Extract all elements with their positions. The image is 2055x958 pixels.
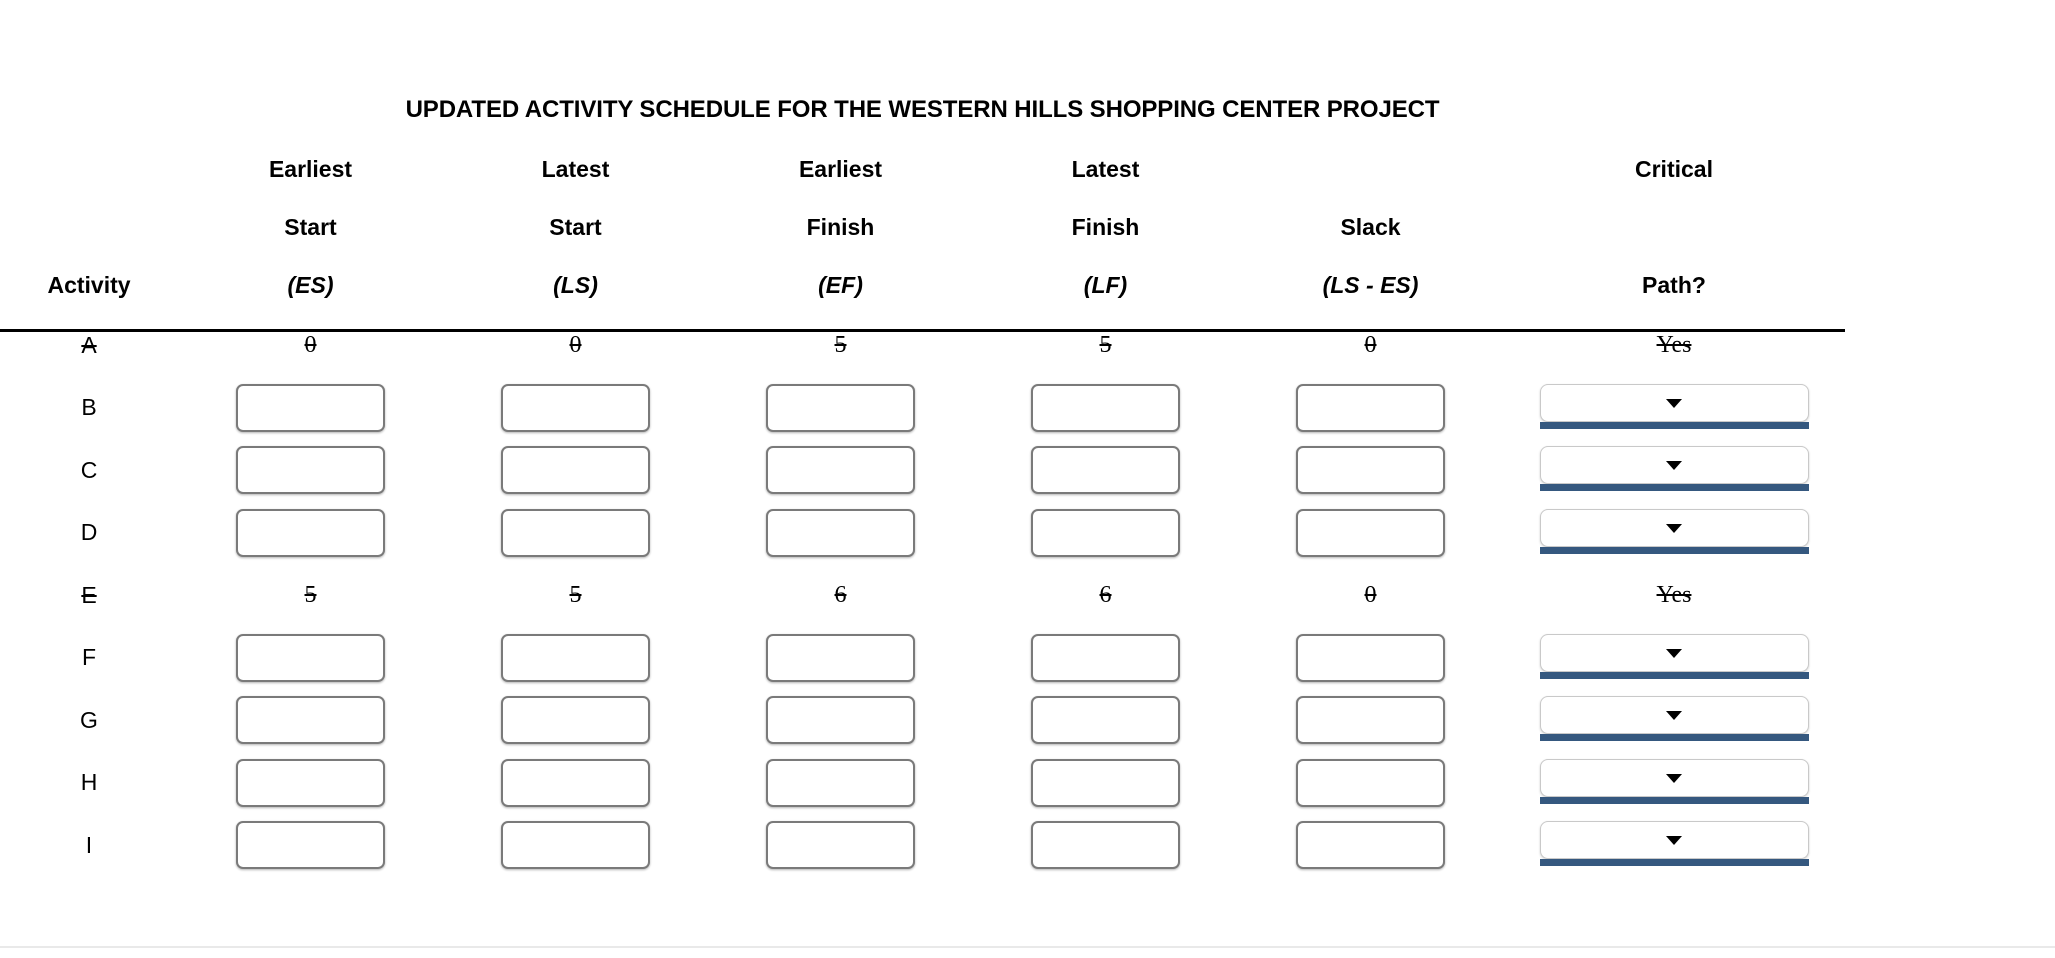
slack-input[interactable]	[1296, 821, 1445, 869]
activity-cell: D	[0, 502, 178, 565]
latest-start-input[interactable]	[501, 634, 650, 682]
latest-finish-cell: 5	[973, 314, 1238, 377]
earliest-start-input[interactable]	[236, 821, 385, 869]
critical-path-cell	[1503, 689, 1845, 752]
header-ef-line1: Earliest	[708, 140, 973, 198]
critical-path-dropdown[interactable]	[1540, 759, 1809, 807]
table-header: Earliest Latest Earliest Latest Critical…	[0, 140, 1845, 314]
header-ls-line3: (LS)	[443, 256, 708, 314]
chevron-down-icon	[1666, 774, 1682, 783]
dropdown-face[interactable]	[1540, 384, 1809, 422]
chevron-down-icon	[1666, 649, 1682, 658]
table-row: F	[0, 627, 1845, 690]
header-row-3: Activity (ES) (LS) (EF) (LF) (LS - ES) P…	[0, 256, 1845, 314]
critical-path-dropdown[interactable]	[1540, 821, 1809, 869]
slack-input[interactable]	[1296, 634, 1445, 682]
earliest-finish-cell	[708, 689, 973, 752]
earliest-finish-input[interactable]	[766, 759, 915, 807]
critical-path-cell	[1503, 752, 1845, 815]
activity-schedule-table: Earliest Latest Earliest Latest Critical…	[0, 140, 1845, 877]
bottom-divider	[0, 946, 2055, 948]
earliest-finish-input[interactable]	[766, 696, 915, 744]
slack-cell	[1238, 689, 1503, 752]
table-row: H	[0, 752, 1845, 815]
activity-cell: C	[0, 439, 178, 502]
slack-cell	[1238, 627, 1503, 690]
slack-input[interactable]	[1296, 384, 1445, 432]
dropdown-underline	[1540, 672, 1809, 679]
activity-cell: E	[0, 564, 178, 627]
earliest-start-cell	[178, 689, 443, 752]
earliest-finish-cell	[708, 439, 973, 502]
critical-path-cell	[1503, 502, 1845, 565]
critical-path-cell: Yes	[1503, 314, 1845, 377]
chevron-down-icon	[1666, 524, 1682, 533]
table-row: A00550Yes	[0, 314, 1845, 377]
earliest-start-cell: 0	[178, 314, 443, 377]
header-lf-line1: Latest	[973, 140, 1238, 198]
header-ef-line2: Finish	[708, 198, 973, 256]
latest-finish-input[interactable]	[1031, 509, 1180, 557]
latest-start-cell	[443, 439, 708, 502]
table-row: E55660Yes	[0, 564, 1845, 627]
activity-label: D	[81, 519, 98, 545]
slack-input[interactable]	[1296, 696, 1445, 744]
latest-start-cell	[443, 814, 708, 877]
earliest-finish-cell: 5	[708, 314, 973, 377]
slack-input[interactable]	[1296, 446, 1445, 494]
activity-cell: H	[0, 752, 178, 815]
slack-cell	[1238, 814, 1503, 877]
earliest-finish-value: 5	[835, 332, 847, 358]
chevron-down-icon	[1666, 836, 1682, 845]
header-lf-line3: (LF)	[973, 256, 1238, 314]
slack-input[interactable]	[1296, 759, 1445, 807]
activity-label: F	[82, 644, 96, 670]
latest-finish-input[interactable]	[1031, 696, 1180, 744]
earliest-start-cell	[178, 627, 443, 690]
earliest-start-input[interactable]	[236, 384, 385, 432]
earliest-finish-input[interactable]	[766, 634, 915, 682]
header-activity-line2	[0, 198, 178, 256]
activity-cell: A	[0, 314, 178, 377]
header-ls-line1: Latest	[443, 140, 708, 198]
earliest-finish-input[interactable]	[766, 446, 915, 494]
critical-path-value: Yes	[1657, 582, 1692, 608]
header-activity-line3: Activity	[0, 256, 178, 314]
latest-finish-cell	[973, 752, 1238, 815]
earliest-start-value: 5	[305, 582, 317, 608]
dropdown-underline	[1540, 797, 1809, 804]
latest-start-input[interactable]	[501, 509, 650, 557]
latest-start-value: 5	[570, 582, 582, 608]
chevron-down-icon	[1666, 461, 1682, 470]
latest-finish-input[interactable]	[1031, 446, 1180, 494]
earliest-start-input[interactable]	[236, 446, 385, 494]
latest-finish-cell	[973, 377, 1238, 440]
earliest-start-input[interactable]	[236, 759, 385, 807]
earliest-finish-value: 6	[835, 582, 847, 608]
latest-start-cell	[443, 752, 708, 815]
latest-finish-cell	[973, 502, 1238, 565]
header-es-line3: (ES)	[178, 256, 443, 314]
header-slack-line3: (LS - ES)	[1238, 256, 1503, 314]
earliest-start-value: 0	[305, 332, 317, 358]
header-es-line1: Earliest	[178, 140, 443, 198]
earliest-start-cell	[178, 502, 443, 565]
critical-path-cell	[1503, 814, 1845, 877]
latest-finish-value: 6	[1100, 582, 1112, 608]
earliest-start-cell	[178, 814, 443, 877]
latest-start-input[interactable]	[501, 821, 650, 869]
header-row-2: Start Start Finish Finish Slack	[0, 198, 1845, 256]
table-row: C	[0, 439, 1845, 502]
header-lf-line2: Finish	[973, 198, 1238, 256]
slack-cell	[1238, 439, 1503, 502]
critical-path-cell	[1503, 627, 1845, 690]
dropdown-underline	[1540, 422, 1809, 429]
latest-start-value: 0	[570, 332, 582, 358]
slack-cell	[1238, 752, 1503, 815]
latest-finish-input[interactable]	[1031, 634, 1180, 682]
activity-label: A	[81, 332, 96, 358]
earliest-start-input[interactable]	[236, 509, 385, 557]
slack-input[interactable]	[1296, 509, 1445, 557]
latest-start-input[interactable]	[501, 759, 650, 807]
activity-cell: F	[0, 627, 178, 690]
earliest-finish-cell	[708, 814, 973, 877]
table-row: B	[0, 377, 1845, 440]
earliest-finish-input[interactable]	[766, 821, 915, 869]
latest-finish-input[interactable]	[1031, 759, 1180, 807]
latest-finish-cell	[973, 814, 1238, 877]
earliest-start-input[interactable]	[236, 634, 385, 682]
header-ef-line3: (EF)	[708, 256, 973, 314]
slack-cell	[1238, 377, 1503, 440]
activity-cell: B	[0, 377, 178, 440]
latest-start-cell	[443, 689, 708, 752]
critical-path-dropdown[interactable]	[1540, 384, 1809, 432]
critical-path-value: Yes	[1657, 332, 1692, 358]
latest-finish-cell	[973, 627, 1238, 690]
header-slack-line1	[1238, 140, 1503, 198]
header-critical-line2	[1503, 198, 1845, 256]
earliest-start-cell	[178, 377, 443, 440]
header-ls-line2: Start	[443, 198, 708, 256]
dropdown-face[interactable]	[1540, 759, 1809, 797]
critical-path-dropdown[interactable]	[1540, 634, 1809, 682]
latest-start-cell	[443, 502, 708, 565]
slack-value: 0	[1365, 582, 1377, 608]
earliest-finish-cell	[708, 502, 973, 565]
dropdown-underline	[1540, 859, 1809, 866]
latest-start-cell	[443, 377, 708, 440]
latest-start-input[interactable]	[501, 384, 650, 432]
header-es-line2: Start	[178, 198, 443, 256]
latest-finish-input[interactable]	[1031, 821, 1180, 869]
critical-path-dropdown[interactable]	[1540, 509, 1809, 557]
chevron-down-icon	[1666, 711, 1682, 720]
latest-finish-cell	[973, 689, 1238, 752]
dropdown-face[interactable]	[1540, 446, 1809, 484]
header-activity-line1	[0, 140, 178, 198]
activity-label: I	[86, 832, 92, 858]
slack-cell: 0	[1238, 314, 1503, 377]
earliest-finish-cell	[708, 377, 973, 440]
dropdown-underline	[1540, 547, 1809, 554]
chevron-down-icon	[1666, 399, 1682, 408]
earliest-start-cell	[178, 439, 443, 502]
latest-finish-input[interactable]	[1031, 384, 1180, 432]
critical-path-cell: Yes	[1503, 564, 1845, 627]
latest-start-cell: 0	[443, 314, 708, 377]
slack-cell	[1238, 502, 1503, 565]
slack-cell: 0	[1238, 564, 1503, 627]
latest-finish-cell	[973, 439, 1238, 502]
dropdown-face[interactable]	[1540, 509, 1809, 547]
critical-path-dropdown[interactable]	[1540, 696, 1809, 744]
latest-start-input[interactable]	[501, 696, 650, 744]
earliest-finish-input[interactable]	[766, 509, 915, 557]
page-title: UPDATED ACTIVITY SCHEDULE FOR THE WESTER…	[0, 96, 1845, 124]
earliest-start-cell: 5	[178, 564, 443, 627]
critical-path-cell	[1503, 377, 1845, 440]
activity-cell: I	[0, 814, 178, 877]
activity-label: B	[81, 394, 96, 420]
slack-value: 0	[1365, 332, 1377, 358]
earliest-finish-cell	[708, 627, 973, 690]
latest-start-cell: 5	[443, 564, 708, 627]
latest-finish-value: 5	[1100, 332, 1112, 358]
latest-start-cell	[443, 627, 708, 690]
table-row: D	[0, 502, 1845, 565]
dropdown-face[interactable]	[1540, 821, 1809, 859]
dropdown-face[interactable]	[1540, 634, 1809, 672]
activity-label: G	[80, 707, 98, 733]
earliest-finish-input[interactable]	[766, 384, 915, 432]
header-row-1: Earliest Latest Earliest Latest Critical	[0, 140, 1845, 198]
activity-label: C	[81, 457, 98, 483]
dropdown-underline	[1540, 734, 1809, 741]
table-row: I	[0, 814, 1845, 877]
latest-finish-cell: 6	[973, 564, 1238, 627]
critical-path-cell	[1503, 439, 1845, 502]
activity-label: E	[81, 582, 96, 608]
header-critical-line3: Path?	[1503, 256, 1845, 314]
earliest-start-cell	[178, 752, 443, 815]
earliest-start-input[interactable]	[236, 696, 385, 744]
table-body: A00550YesBCDE55660YesFGHI	[0, 314, 1845, 877]
header-slack-line2: Slack	[1238, 198, 1503, 256]
activity-cell: G	[0, 689, 178, 752]
dropdown-underline	[1540, 484, 1809, 491]
latest-start-input[interactable]	[501, 446, 650, 494]
earliest-finish-cell: 6	[708, 564, 973, 627]
activity-label: H	[81, 769, 98, 795]
critical-path-dropdown[interactable]	[1540, 446, 1809, 494]
table-row: G	[0, 689, 1845, 752]
earliest-finish-cell	[708, 752, 973, 815]
dropdown-face[interactable]	[1540, 696, 1809, 734]
header-critical-line1: Critical	[1503, 140, 1845, 198]
